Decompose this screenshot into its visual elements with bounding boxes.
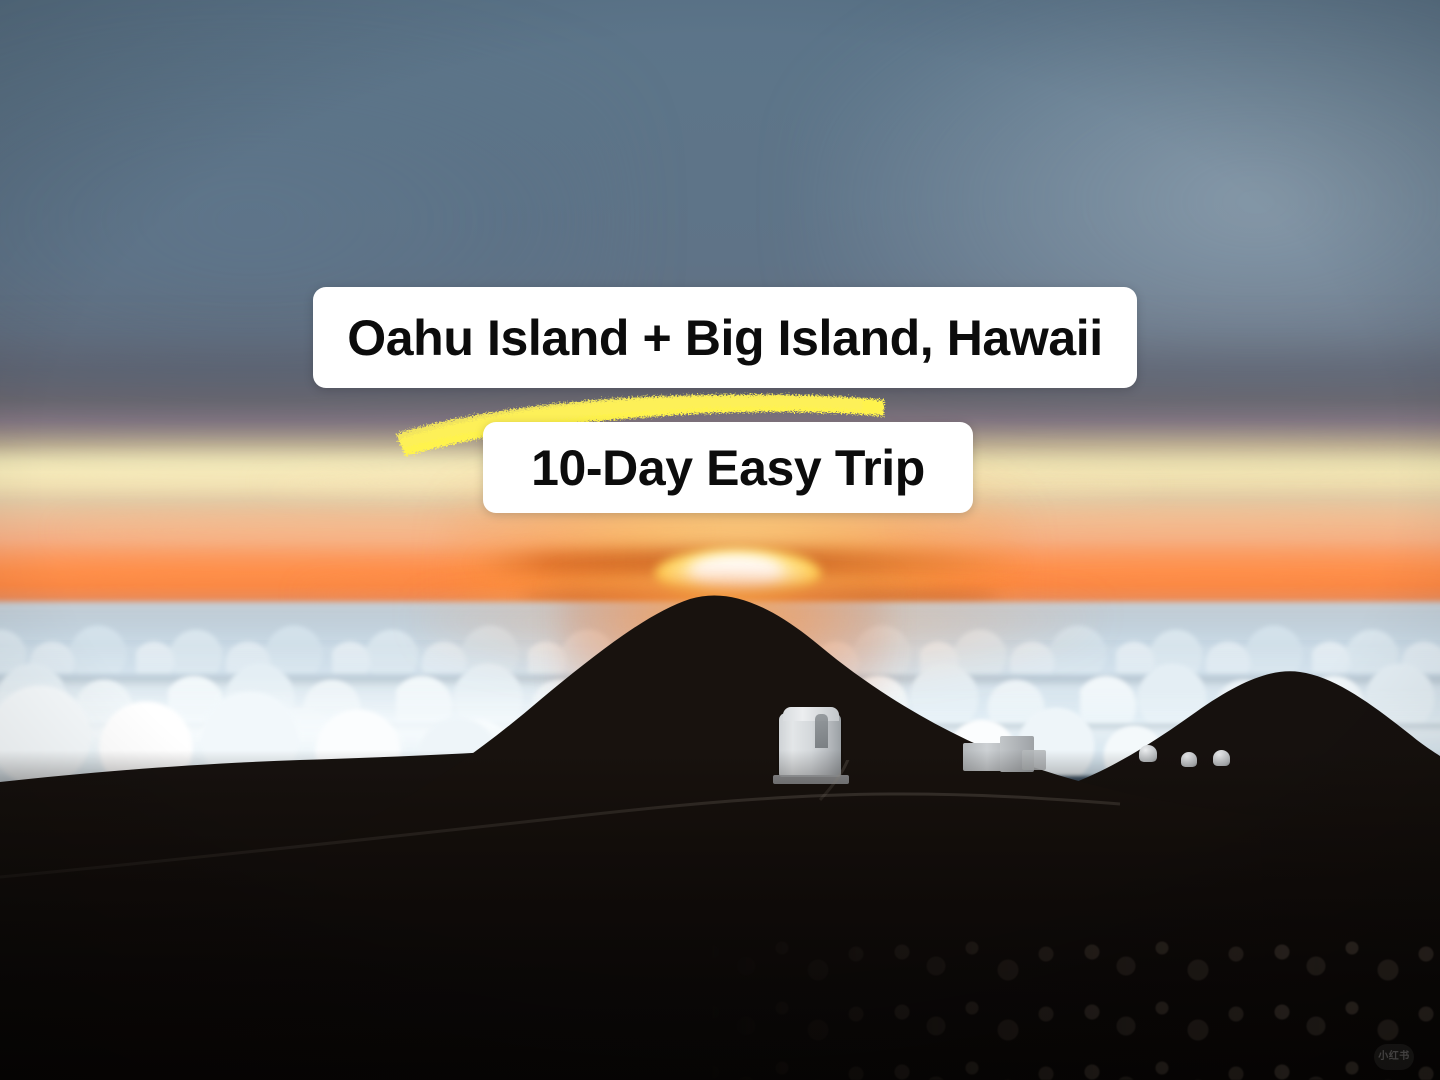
background-photo (0, 0, 1440, 1080)
observatory-dome-cap (783, 707, 839, 721)
volcanic-rubble-texture (700, 930, 1440, 1080)
subtitle-card: 10-Day Easy Trip (483, 422, 973, 513)
page-title: Oahu Island + Big Island, Hawaii (347, 313, 1102, 363)
page-subtitle: 10-Day Easy Trip (531, 443, 925, 493)
watermark-label: 小红书 (1378, 1052, 1410, 1062)
title-card: Oahu Island + Big Island, Hawaii (313, 287, 1137, 388)
watermark-badge: 小红书 (1374, 1044, 1414, 1070)
travel-poster: Oahu Island + Big Island, Hawaii 10-Day … (0, 0, 1440, 1080)
observatory-dome-slit (815, 714, 828, 748)
